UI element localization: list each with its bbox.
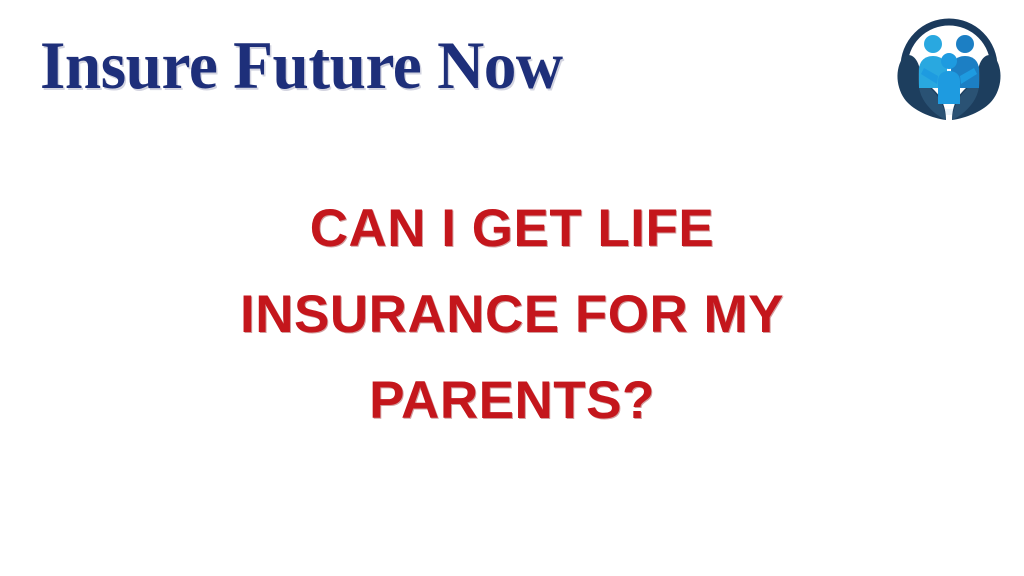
brand-wordmark: Insure Future Now <box>40 28 563 102</box>
headline-block: CAN I GET LIFE INSURANCE FOR MY PARENTS? <box>0 186 1024 444</box>
hands-holding-family-logo-icon <box>888 4 1010 126</box>
brand-logo <box>888 4 1010 126</box>
headline-line-3: PARENTS? <box>0 358 1024 444</box>
headline-line-1: CAN I GET LIFE <box>0 186 1024 272</box>
logo-parent-right-head-icon <box>956 35 974 53</box>
brand-header: Insure Future Now <box>0 0 1024 130</box>
slide-canvas: Insure Future Now <box>0 0 1024 576</box>
logo-child-head-icon <box>941 53 957 69</box>
headline-line-2: INSURANCE FOR MY <box>0 272 1024 358</box>
logo-parent-left-head-icon <box>924 35 942 53</box>
logo-child-body-icon <box>938 71 960 104</box>
